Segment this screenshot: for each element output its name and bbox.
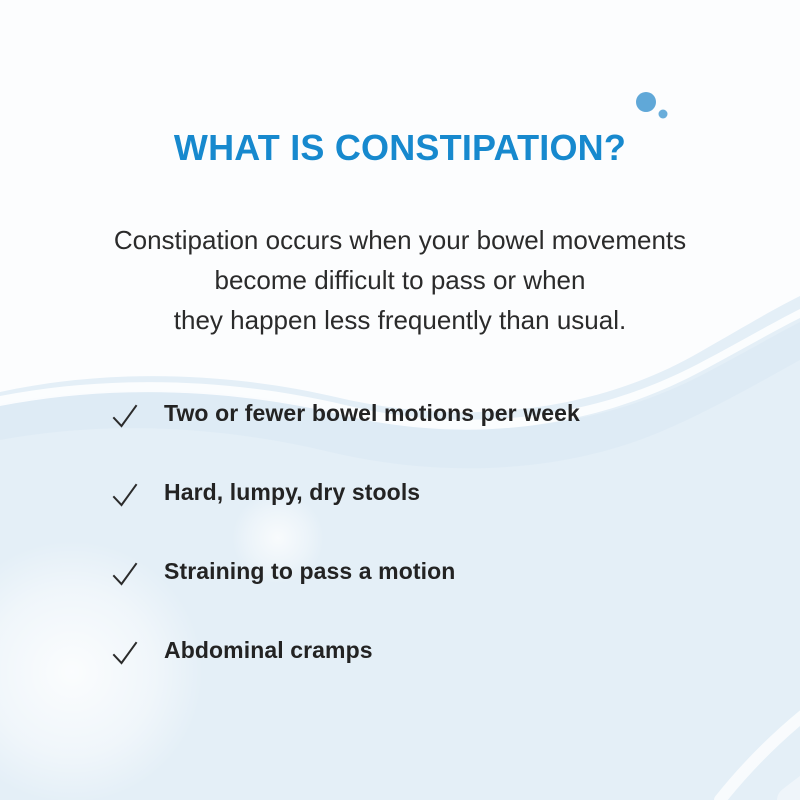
slide-canvas: WHAT IS CONSTIPATION? Constipation occur… [0, 0, 800, 800]
list-item: Straining to pass a motion [0, 556, 800, 635]
check-icon [112, 560, 138, 590]
list-item: Abdominal cramps [0, 635, 800, 714]
symptom-list: Two or fewer bowel motions per week Hard… [0, 398, 800, 714]
check-icon [112, 402, 138, 432]
list-item-label: Straining to pass a motion [164, 556, 455, 587]
list-item: Two or fewer bowel motions per week [0, 398, 800, 477]
intro-line-2: become difficult to pass or when [40, 260, 760, 300]
dot-large-icon [636, 92, 656, 112]
dot-small-icon [659, 110, 668, 119]
list-item-label: Abdominal cramps [164, 635, 373, 666]
intro-line-1: Constipation occurs when your bowel move… [40, 220, 760, 260]
check-icon [112, 481, 138, 511]
list-item-label: Hard, lumpy, dry stools [164, 477, 420, 508]
list-item-label: Two or fewer bowel motions per week [164, 398, 580, 429]
page-title: WHAT IS CONSTIPATION? [0, 126, 800, 169]
check-icon [112, 639, 138, 669]
list-item: Hard, lumpy, dry stools [0, 477, 800, 556]
intro-paragraph: Constipation occurs when your bowel move… [40, 220, 760, 340]
intro-line-3: they happen less frequently than usual. [40, 300, 760, 340]
